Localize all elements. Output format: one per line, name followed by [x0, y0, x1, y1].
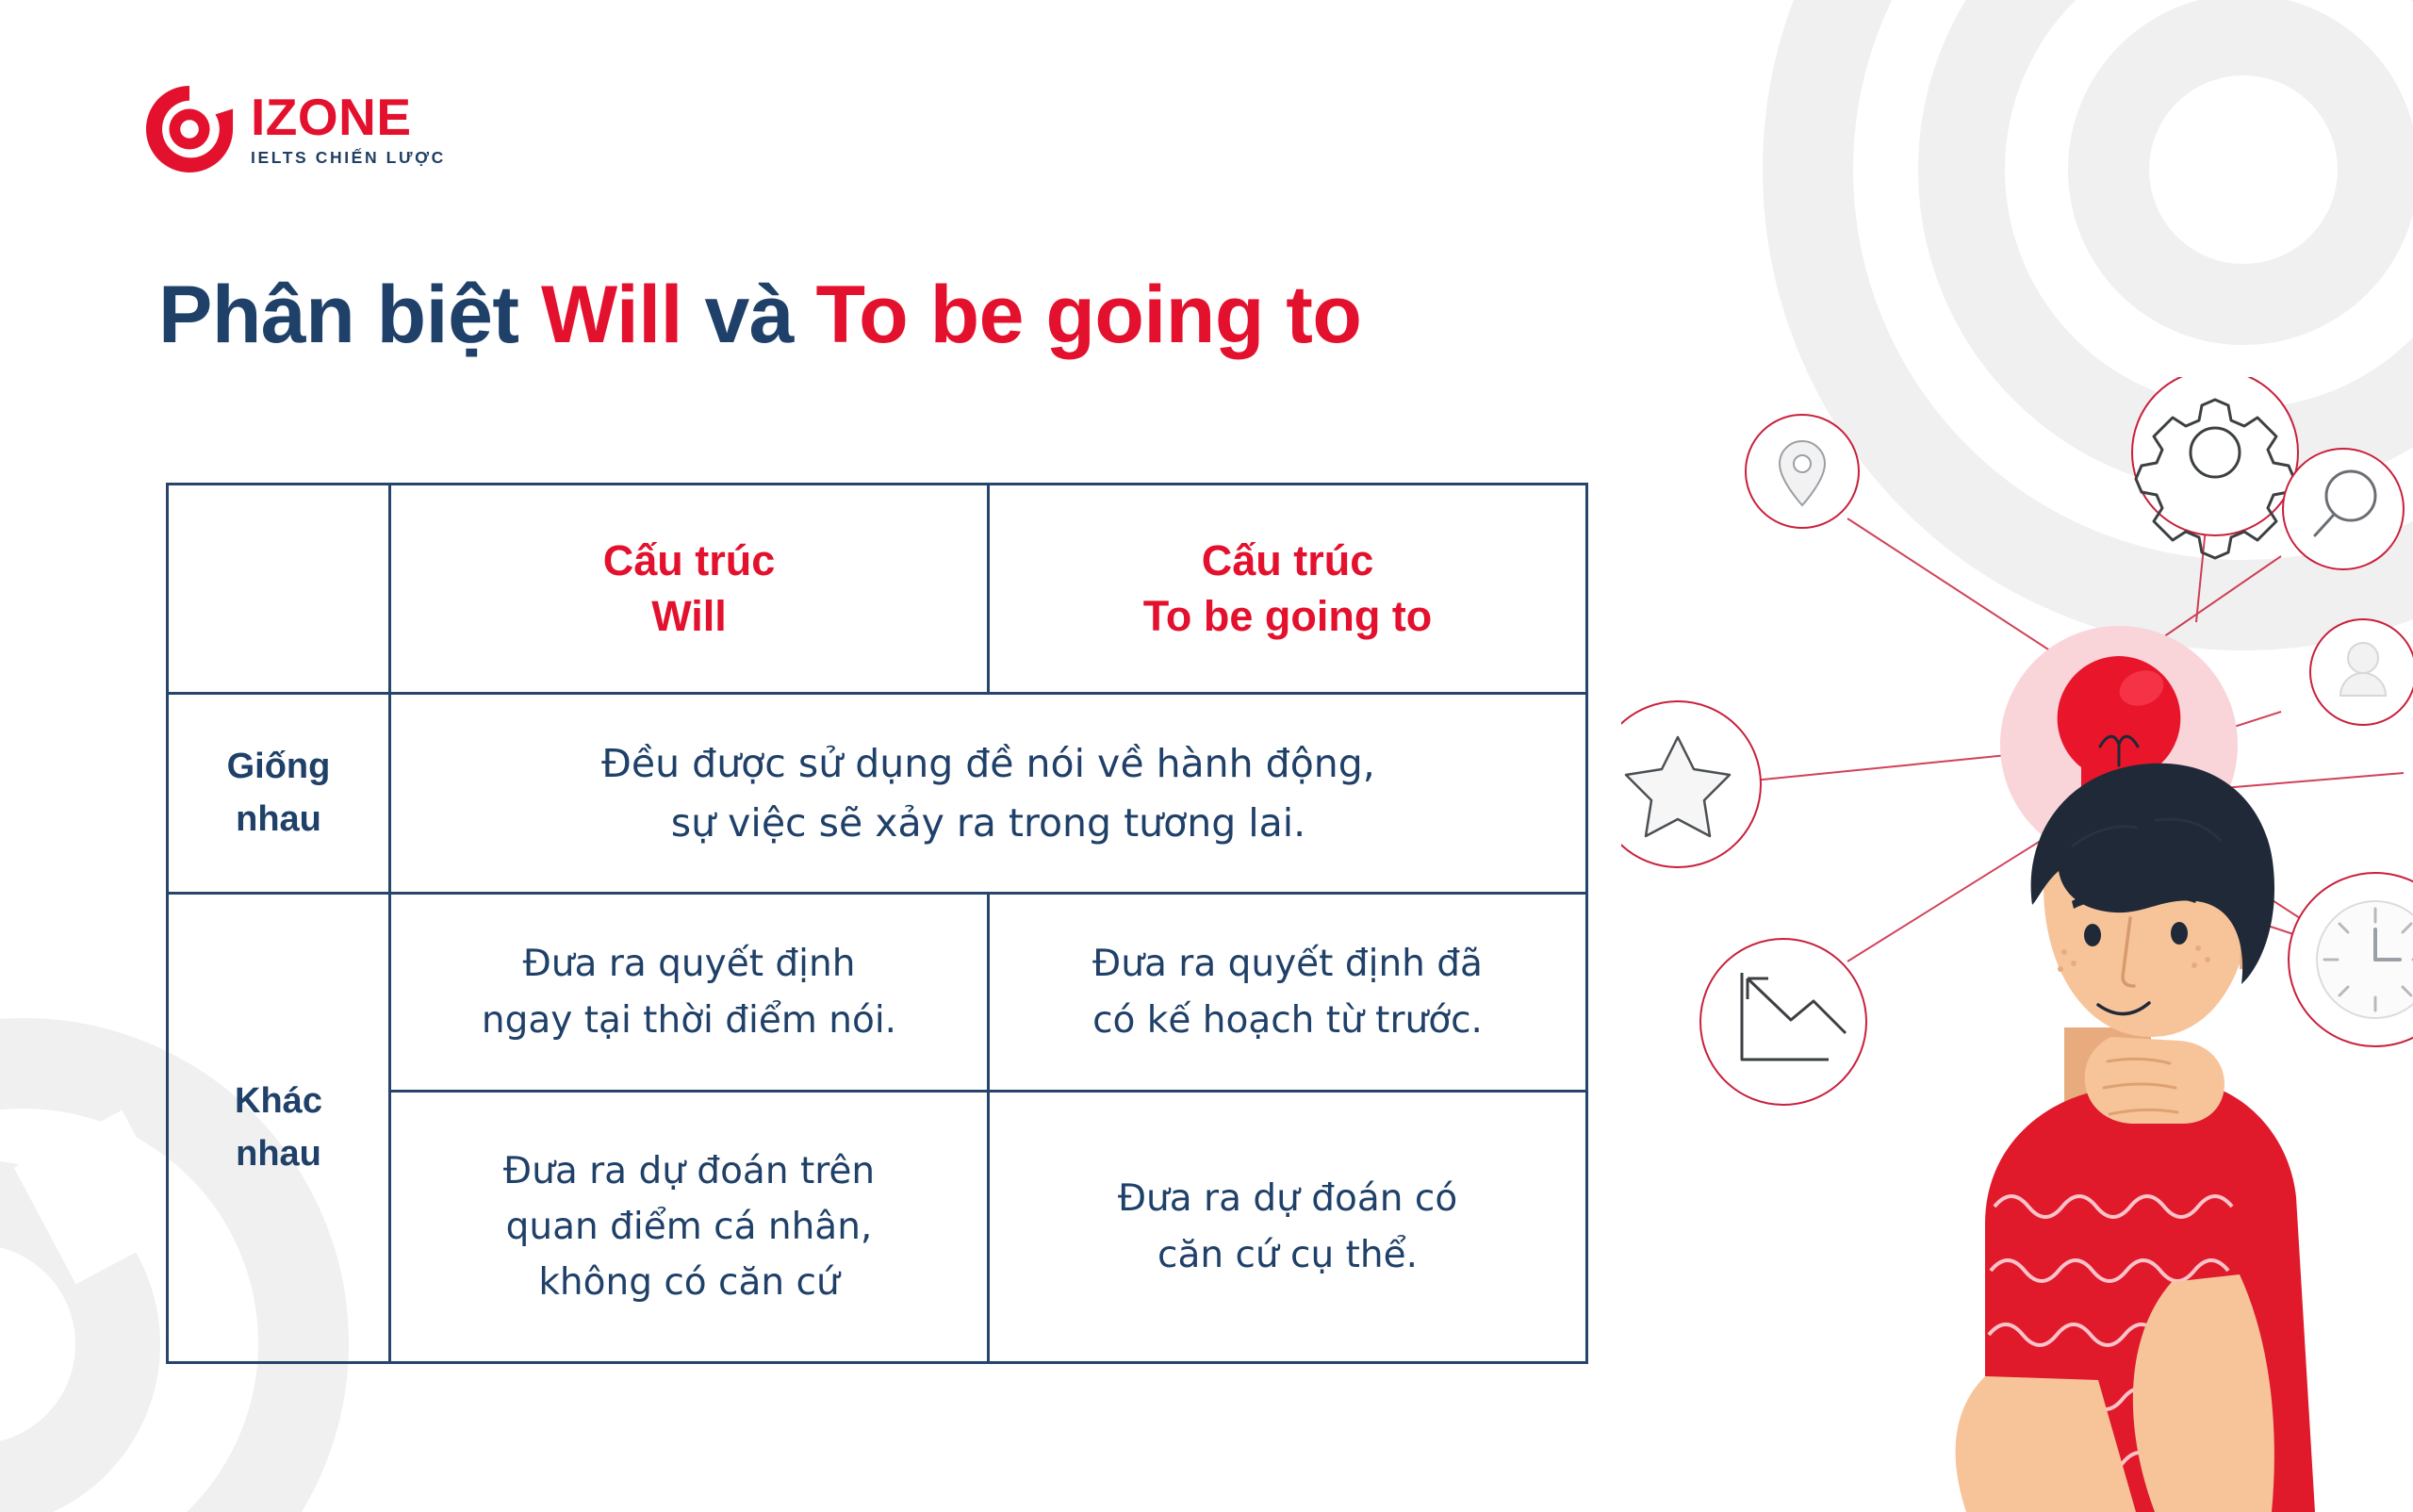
table-header-row: Cấu trúc Will Cấu trúc To be going to — [168, 485, 1587, 694]
decorative-ring-notch — [14, 1110, 185, 1285]
column-header-will-line2: Will — [401, 589, 977, 645]
decorative-ring-bottom-left-inner — [0, 1159, 160, 1512]
cell-going-prediction-line1: Đưa ra dự đoán có — [999, 1171, 1576, 1226]
logo-tagline: IELTS CHIẾN LƯỢC — [251, 150, 446, 167]
title-part-phan-biet: Phân biệt — [158, 270, 541, 360]
cell-will-prediction-line1: Đưa ra dự đoán trên — [401, 1143, 977, 1199]
cell-shared-meaning-line1: Đều được sử dụng đề nói về hành động, — [401, 734, 1576, 793]
column-header-going-line2: To be going to — [999, 589, 1576, 645]
location-pin-icon — [1746, 415, 1859, 528]
cell-will-decision-line2: ngay tại thời điểm nói. — [401, 993, 977, 1048]
infographic-page: IZONE IELTS CHIẾN LƯỢC Phân biệt Will và… — [0, 0, 2413, 1512]
cell-going-prediction-line2: căn cứ cụ thể. — [999, 1227, 1576, 1283]
star-icon — [1621, 701, 1761, 867]
cell-going-decision-line1: Đưa ra quyết định đã — [999, 936, 1576, 992]
table-row-giong-nhau: Giống nhau Đều được sử dụng đề nói về hà… — [168, 694, 1587, 894]
column-header-will-line1: Cấu trúc — [401, 534, 977, 589]
right-forearm — [2133, 1274, 2274, 1512]
logo-wordmark: IZONE IELTS CHIẾN LƯỢC — [251, 91, 446, 167]
clock-icon — [2289, 873, 2413, 1046]
target-bullseye-icon — [143, 83, 236, 175]
chart-decline-icon — [1700, 939, 1866, 1105]
row-label-giong-nhau-line2: nhau — [178, 794, 379, 846]
column-header-will: Cấu trúc Will — [390, 485, 989, 694]
gear-icon — [2132, 377, 2298, 558]
cell-will-prediction-line2: quan điểm cá nhân, — [401, 1199, 977, 1255]
column-header-going-line1: Cấu trúc — [999, 534, 1576, 589]
thinking-man-illustration — [1621, 377, 2413, 1512]
row-label-khac-nhau-line1: Khác — [178, 1076, 379, 1127]
cell-shared-meaning-line2: sự việc sẽ xảy ra trong tương lai. — [401, 794, 1576, 852]
user-icon — [2310, 619, 2413, 725]
column-header-going-to: Cấu trúc To be going to — [989, 485, 1587, 694]
table-corner-cell — [168, 485, 390, 694]
cell-will-decision-line1: Đưa ra quyết định — [401, 936, 977, 992]
row-label-giong-nhau: Giống nhau — [168, 694, 390, 894]
comparison-table: Cấu trúc Will Cấu trúc To be going to Gi… — [166, 483, 1588, 1364]
cell-going-decision: Đưa ra quyết định đã có kế hoạch từ trướ… — [989, 894, 1587, 1092]
logo-word: IZONE — [251, 91, 446, 143]
row-label-khac-nhau-line2: nhau — [178, 1128, 379, 1180]
title-part-va: và — [682, 270, 815, 360]
cell-will-prediction-line3: không có căn cứ — [401, 1255, 977, 1310]
decorative-ring-top-right-inner — [2068, 0, 2413, 345]
search-icon — [2283, 449, 2404, 569]
cell-shared-meaning: Đều được sử dụng đề nói về hành động, sự… — [390, 694, 1587, 894]
person-figure — [1956, 764, 2315, 1512]
cell-will-decision: Đưa ra quyết định ngay tại thời điểm nói… — [390, 894, 989, 1092]
page-title: Phân biệt Will và To be going to — [158, 271, 1361, 359]
title-part-will: Will — [541, 270, 682, 360]
cell-going-decision-line2: có kế hoạch từ trước. — [999, 993, 1576, 1048]
cell-will-prediction: Đưa ra dự đoán trên quan điểm cá nhân, k… — [390, 1092, 989, 1363]
row-label-khac-nhau: Khác nhau — [168, 894, 390, 1363]
table-row-khac-nhau-1: Khác nhau Đưa ra quyết định ngay tại thờ… — [168, 894, 1587, 1092]
row-label-giong-nhau-line1: Giống — [178, 741, 379, 793]
izone-logo[interactable]: IZONE IELTS CHIẾN LƯỢC — [143, 83, 446, 175]
cell-going-prediction: Đưa ra dự đoán có căn cứ cụ thể. — [989, 1092, 1587, 1363]
title-part-going-to: To be going to — [816, 270, 1362, 360]
